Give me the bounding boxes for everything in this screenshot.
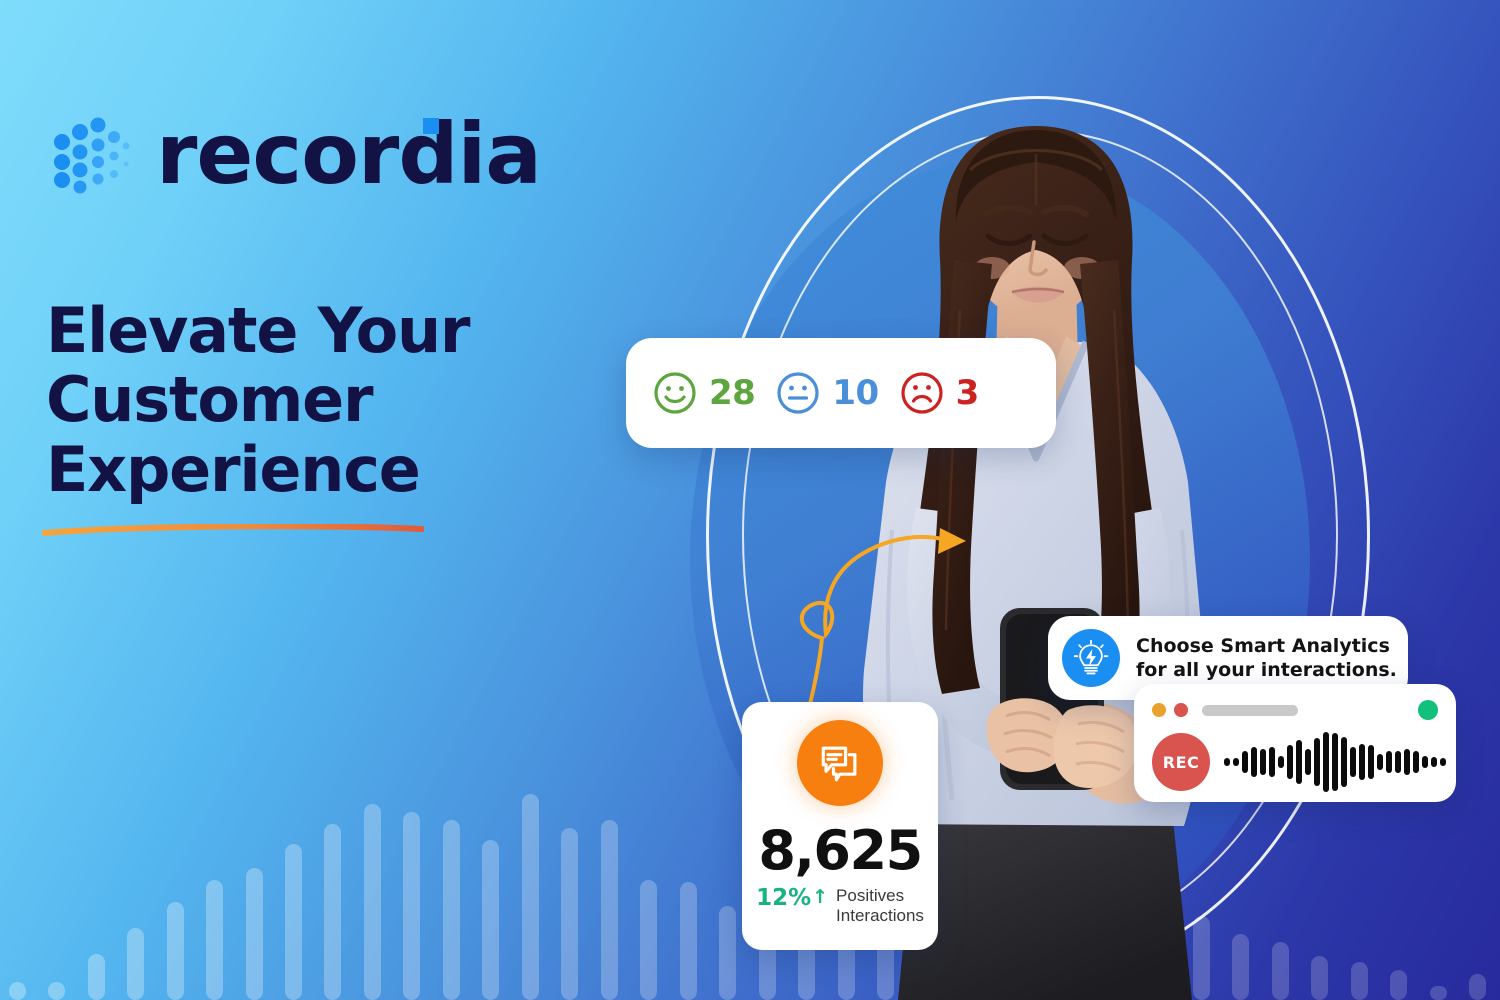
sentiment-item-negative[interactable]: 3 (899, 370, 979, 416)
sentiment-count-negative: 3 (956, 373, 979, 413)
recording-waveform-bar (1242, 751, 1248, 773)
background-waveform-bar (127, 928, 144, 1000)
recording-waveform-bar (1386, 751, 1392, 773)
background-waveform-bar (1430, 986, 1447, 1000)
background-waveform-bar (561, 828, 578, 1000)
brand-logo[interactable]: recordia (50, 112, 541, 196)
background-waveform-bar (680, 882, 697, 1000)
recording-waveform-bar (1413, 751, 1419, 773)
window-dot-amber[interactable] (1152, 703, 1166, 717)
recording-waveform-bar (1296, 740, 1302, 784)
background-waveform-bar (1351, 962, 1368, 1000)
marketing-banner: recordia Elevate Your Customer Experienc… (0, 0, 1500, 1000)
recording-waveform-bar (1233, 758, 1239, 766)
recording-waveform-bar (1251, 747, 1257, 777)
background-waveform-bar (601, 820, 618, 1000)
recording-waveform-bar (1368, 745, 1374, 779)
recordia-dot-mark (50, 112, 134, 196)
recording-waveform-bar (1377, 754, 1383, 770)
stat-label-line-1: Positives (836, 886, 924, 906)
recording-waveform-bar (1314, 738, 1320, 786)
background-waveform-bar (48, 982, 65, 1000)
chat-bubbles-icon (797, 720, 883, 806)
sentiment-summary-card[interactable]: 28 10 3 (626, 338, 1056, 448)
stat-value: 8,625 (758, 824, 921, 878)
recorder-window-chrome (1152, 700, 1438, 720)
headline-line-3: Experience (46, 435, 586, 504)
recording-waveform-bar (1332, 733, 1338, 791)
recording-waveform-bar (1422, 756, 1428, 768)
recording-waveform-bar (1287, 745, 1293, 779)
positive-interactions-stat-card[interactable]: 8,625 12% ↑ Positives Interactions (742, 702, 938, 950)
background-waveform-bar (443, 820, 460, 1000)
background-waveform-bar (88, 954, 105, 1000)
background-waveform-bar (1311, 956, 1328, 1000)
recording-waveform-bar (1359, 744, 1365, 780)
call-recorder-card[interactable]: REC (1134, 684, 1456, 802)
recording-waveform-bar (1323, 732, 1329, 792)
stat-delta: 12% ↑ (756, 886, 828, 910)
tip-line-2: for all your interactions. (1136, 658, 1397, 682)
recording-waveform-bar (1350, 747, 1356, 777)
headline-line-1: Elevate Your (46, 296, 586, 365)
recording-waveform-bar (1260, 749, 1266, 775)
background-waveform-bar (285, 844, 302, 1000)
background-waveform-bar (9, 982, 26, 1000)
sentiment-count-positive: 28 (709, 373, 755, 413)
background-waveform-bar (246, 868, 263, 1000)
background-waveform-bar (640, 880, 657, 1000)
background-waveform-bar (324, 824, 341, 1000)
stat-delta-value: 12% (756, 886, 811, 910)
stat-label: Positives Interactions (836, 886, 924, 926)
curved-looping-arrow (770, 500, 990, 730)
recording-waveform-bar (1404, 749, 1410, 775)
rec-button-icon[interactable]: REC (1152, 733, 1210, 791)
background-waveform-bar (1469, 974, 1486, 1000)
sentiment-count-neutral: 10 (832, 373, 878, 413)
window-dot-red[interactable] (1174, 703, 1188, 717)
stat-label-line-2: Interactions (836, 906, 924, 926)
background-waveform-bar (364, 804, 381, 1000)
background-waveform-bar (206, 880, 223, 1000)
recording-waveform (1224, 732, 1446, 792)
recording-waveform-bar (1341, 737, 1347, 787)
headline-underline (42, 524, 424, 536)
recorder-address-bar[interactable] (1202, 705, 1298, 716)
recording-waveform-bar (1395, 751, 1401, 773)
sentiment-item-neutral[interactable]: 10 (775, 370, 878, 416)
recording-waveform-bar (1269, 747, 1275, 777)
recording-waveform-bar (1278, 756, 1284, 768)
headline-line-2: Customer (46, 365, 586, 434)
background-waveform-bar (482, 840, 499, 1000)
smiley-happy-icon (652, 370, 698, 416)
background-waveform-bar (522, 794, 539, 1000)
sentiment-item-positive[interactable]: 28 (652, 370, 755, 416)
smiley-sad-icon (899, 370, 945, 416)
lightbulb-bolt-icon (1062, 629, 1120, 687)
wordmark-accent-dot (423, 118, 439, 134)
recording-waveform-bar (1305, 749, 1311, 775)
smart-analytics-tip-text: Choose Smart Analytics for all your inte… (1136, 634, 1397, 683)
brand-wordmark: recordia (156, 112, 541, 196)
smiley-neutral-icon (775, 370, 821, 416)
arrow-up-icon: ↑ (812, 888, 828, 908)
page-title: Elevate Your Customer Experience (46, 296, 586, 504)
background-waveform-bar (167, 902, 184, 1000)
status-dot-live (1418, 700, 1438, 720)
recording-waveform-bar (1440, 758, 1446, 766)
tip-line-1: Choose Smart Analytics (1136, 634, 1397, 658)
rec-button-label: REC (1163, 753, 1200, 772)
recording-waveform-bar (1431, 757, 1437, 767)
background-waveform-bar (1390, 970, 1407, 1000)
background-waveform-bar (719, 906, 736, 1000)
background-waveform-bar (403, 812, 420, 1000)
recording-waveform-bar (1224, 758, 1230, 766)
